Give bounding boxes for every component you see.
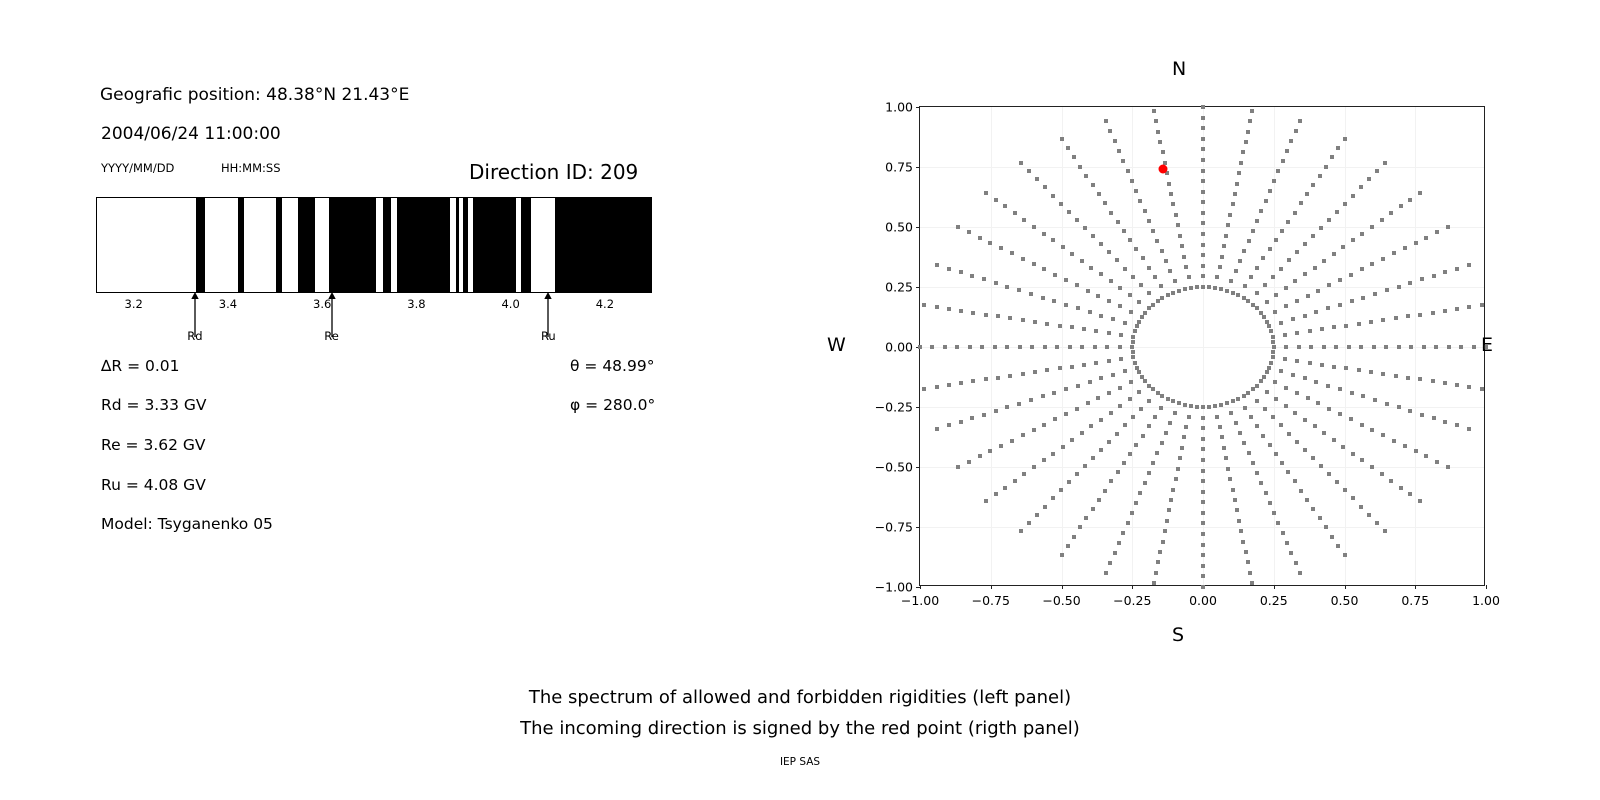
direction-dot [1251, 461, 1255, 465]
direction-dot [1229, 279, 1233, 283]
direction-dot [1276, 521, 1280, 525]
direction-dot [1383, 161, 1387, 165]
direction-dot [1218, 425, 1222, 429]
direction-dot [1169, 192, 1173, 196]
direction-dot [1135, 324, 1139, 328]
x-tick-label: 0.50 [1331, 593, 1359, 608]
direction-dot [1241, 540, 1245, 544]
direction-dot [1169, 498, 1173, 502]
direction-dot [1327, 407, 1331, 411]
x-tick-mark [1132, 585, 1133, 589]
direction-dot [1201, 169, 1205, 173]
direction-dot [1080, 259, 1084, 263]
direction-dot [1134, 247, 1138, 251]
direction-dot [1314, 380, 1318, 384]
direction-dot [1064, 387, 1068, 391]
direction-dot [1154, 571, 1158, 575]
direction-dot [1123, 321, 1127, 325]
direction-dot [1327, 218, 1331, 222]
forbidden-band [555, 198, 652, 292]
direction-dot [1418, 191, 1422, 195]
direction-dot [1234, 269, 1238, 273]
direction-dot [1384, 345, 1388, 349]
direction-dot [1195, 405, 1199, 409]
direction-dot [1052, 299, 1056, 303]
x-tick-mark [991, 585, 992, 589]
direction-dot [1156, 130, 1160, 134]
direction-dot [1061, 245, 1065, 249]
direction-dot [1151, 387, 1155, 391]
direction-dot [1103, 201, 1107, 205]
direction-dot [1324, 165, 1328, 169]
direction-dot [1103, 489, 1107, 493]
rigidity-axis: 3.23.43.63.84.04.2RdReRu [96, 293, 652, 353]
direction-dot [1140, 315, 1144, 319]
direction-dot [1268, 247, 1272, 251]
direction-dot [1032, 225, 1036, 229]
direction-dot [1135, 366, 1139, 370]
direction-dot [1299, 201, 1303, 205]
direction-dot [1195, 285, 1199, 289]
direction-dot [1228, 213, 1232, 217]
direction-dot [1293, 479, 1297, 483]
direction-dot [1259, 379, 1263, 383]
direction-dot [1201, 426, 1205, 430]
y-tick-label: −0.75 [875, 520, 913, 535]
direction-dot [1255, 384, 1259, 388]
gridline-vertical [1345, 107, 1346, 585]
direction-dot [1303, 376, 1307, 380]
direction-dot [1161, 540, 1165, 544]
direction-dot [1113, 139, 1117, 143]
direction-dot [1201, 479, 1205, 483]
direction-dot [1306, 294, 1310, 298]
direction-dot [1082, 363, 1086, 367]
direction-dot [1051, 452, 1055, 456]
direction-dot [1314, 310, 1318, 314]
direction-dot [1147, 291, 1151, 295]
direction-dot [1201, 126, 1205, 130]
direction-dot [1228, 477, 1232, 481]
direction-dot [1226, 223, 1230, 227]
direction-dot [1137, 300, 1141, 304]
direction-dot [1408, 492, 1412, 496]
direction-dot [1341, 245, 1345, 249]
direction-dot [1303, 242, 1307, 246]
direction-dot [1311, 456, 1315, 460]
direction-dot [1234, 421, 1238, 425]
direction-dot [1320, 327, 1324, 331]
direction-dot [994, 492, 998, 496]
direction-dot [971, 379, 975, 383]
direction-dot [1330, 535, 1334, 539]
direction-dot [1446, 225, 1450, 229]
direction-dot [1053, 417, 1057, 421]
direction-dot [1084, 174, 1088, 178]
direction-dot [1099, 242, 1103, 246]
geographic-position-text: Geografic position: 48.38°N 21.43°E [100, 85, 409, 105]
direction-dot [1176, 223, 1180, 227]
direction-dot [1159, 406, 1163, 410]
direction-dot [1064, 303, 1068, 307]
y-tick-mark [916, 107, 920, 108]
direction-dot [1357, 322, 1361, 326]
direction-dot [1055, 345, 1059, 349]
direction-dot [1076, 384, 1080, 388]
direction-dot [1010, 251, 1014, 255]
direction-dot [1360, 232, 1364, 236]
direction-dot [1182, 255, 1186, 259]
direction-dot [1237, 171, 1241, 175]
direction-dot [1274, 452, 1278, 456]
direction-dot [1155, 451, 1159, 455]
direction-dot [1242, 441, 1246, 445]
direction-dot [1350, 391, 1354, 395]
direction-dot [1273, 310, 1277, 314]
direction-dot [1336, 146, 1340, 150]
direction-dot [1422, 345, 1426, 349]
direction-dot [1375, 521, 1379, 525]
direction-dot [1083, 226, 1087, 230]
direction-dot [1239, 161, 1243, 165]
direction-dot [1222, 244, 1226, 248]
direction-dot [1284, 345, 1288, 349]
forbidden-band [238, 198, 244, 292]
direction-dot [1399, 204, 1403, 208]
direction-dot [1147, 266, 1151, 270]
direction-dot [1099, 448, 1103, 452]
forbidden-band [473, 198, 516, 292]
direction-dot [1319, 464, 1323, 468]
direction-dot [1201, 585, 1205, 589]
direction-dot [1249, 275, 1253, 279]
date-format-hint: YYYY/MM/DD [101, 161, 174, 175]
param-ru: Ru = 4.08 GV [101, 476, 206, 494]
direction-dot [1255, 471, 1259, 475]
direction-dot [1138, 491, 1142, 495]
direction-dot [994, 409, 998, 413]
direction-dot [1147, 306, 1151, 310]
direction-dot [1373, 398, 1377, 402]
direction-dot [1271, 335, 1275, 339]
x-tick-mark [920, 585, 921, 589]
forbidden-band [276, 198, 282, 292]
direction-dot [1091, 507, 1095, 511]
direction-dot [1251, 387, 1255, 391]
direction-dot [1121, 159, 1125, 163]
direction-dot [1158, 550, 1162, 554]
datetime-text: 2004/06/24 11:00:00 [101, 124, 281, 144]
direction-dot [1255, 219, 1259, 223]
direction-dot [1042, 232, 1046, 236]
direction-dot [1361, 296, 1365, 300]
compass-label-west: W [827, 334, 846, 356]
direction-dot [984, 377, 988, 381]
direction-dot [1370, 262, 1374, 266]
y-tick-label: −1.00 [875, 580, 913, 595]
direction-dot [1305, 498, 1309, 502]
gridline-vertical [1062, 107, 1063, 585]
direction-dot [1215, 275, 1219, 279]
direction-dot [1338, 303, 1342, 307]
direction-dot [1097, 192, 1101, 196]
x-tick-mark [1274, 585, 1275, 589]
direction-dot [1219, 287, 1223, 291]
direction-dot [1459, 345, 1463, 349]
direction-dot [1068, 345, 1072, 349]
direction-dot [1294, 561, 1298, 565]
direction-dot [1385, 288, 1389, 292]
direction-dot [1295, 440, 1299, 444]
direction-dot [1163, 529, 1167, 533]
direction-dot [1051, 194, 1055, 198]
direction-dot [1173, 411, 1177, 415]
direction-dot [1111, 317, 1115, 321]
direction-dot [1013, 479, 1017, 483]
direction-dot [1247, 451, 1251, 455]
direction-dot [1287, 432, 1291, 436]
direction-dot [1129, 310, 1133, 314]
direction-dot [1147, 384, 1151, 388]
direction-dot [1246, 560, 1250, 564]
direction-dot [1298, 119, 1302, 123]
direction-dot [1131, 275, 1135, 279]
direction-dot [1075, 407, 1079, 411]
direction-dot [1159, 284, 1163, 288]
direction-dot [1263, 407, 1267, 411]
direction-dot [1126, 169, 1130, 173]
direction-dot [978, 454, 982, 458]
direction-dot [1143, 481, 1147, 485]
direction-dot [1029, 292, 1033, 296]
direction-dot [1107, 440, 1111, 444]
direction-dot [1443, 270, 1447, 274]
direction-dot [1467, 305, 1471, 309]
rigidity-tick-label: 4.2 [596, 297, 614, 311]
direction-dot [1008, 316, 1012, 320]
direction-dot [1022, 218, 1026, 222]
direction-dot [1406, 314, 1410, 318]
y-tick-mark [916, 467, 920, 468]
direction-dot [1408, 409, 1412, 413]
direction-dot [1201, 458, 1205, 462]
direction-dot [1051, 238, 1055, 242]
y-tick-mark [916, 587, 920, 588]
x-tick-label: 0.00 [1189, 593, 1217, 608]
direction-dot [1153, 275, 1157, 279]
direction-dot [1286, 220, 1290, 224]
direction-dot [1349, 273, 1353, 277]
direction-dot [1201, 447, 1205, 451]
direction-dot [1137, 370, 1141, 374]
y-tick-label: 0.25 [885, 280, 913, 295]
direction-dot [1091, 234, 1095, 238]
direction-dot [1334, 345, 1338, 349]
direction-dot [1420, 413, 1424, 417]
direction-dot [1017, 288, 1021, 292]
direction-dot [1344, 366, 1348, 370]
direction-dot [1118, 345, 1122, 349]
direction-dot [1201, 490, 1205, 494]
direction-dot [1284, 386, 1288, 390]
direction-dot [1052, 391, 1056, 395]
direction-dot [1414, 241, 1418, 245]
direction-dot [1187, 415, 1191, 419]
direction-dot [1096, 396, 1100, 400]
direction-dot [1235, 508, 1239, 512]
direction-dot [1283, 333, 1287, 337]
direction-dot [1201, 532, 1205, 536]
param-model: Model: Tsyganenko 05 [101, 515, 273, 533]
direction-dot [1269, 329, 1273, 333]
direction-dot [1108, 561, 1112, 565]
direction-dot [1263, 283, 1267, 287]
direction-dot [1326, 306, 1330, 310]
direction-dot [1335, 480, 1339, 484]
direction-dot [1222, 446, 1226, 450]
direction-dot [1189, 286, 1193, 290]
direction-dot [935, 263, 939, 267]
direction-dot [1279, 321, 1283, 325]
direction-dot [922, 303, 926, 307]
direction-dot [1226, 467, 1230, 471]
direction-dot [1264, 199, 1268, 203]
direction-dot [1341, 445, 1345, 449]
direction-dot [1434, 345, 1438, 349]
direction-dot [1143, 311, 1147, 315]
direction-dot [1005, 285, 1009, 289]
direction-dot [1272, 179, 1276, 183]
direction-dot [1281, 159, 1285, 163]
direction-dot [1279, 369, 1283, 373]
direction-dot [1111, 373, 1115, 377]
direction-dot [1201, 553, 1205, 557]
direction-dot [1357, 368, 1361, 372]
direction-dot [1201, 105, 1205, 109]
direction-dot [1414, 449, 1418, 453]
direction-dot [1351, 238, 1355, 242]
direction-dot [1274, 293, 1278, 297]
direction-dot [1060, 553, 1064, 557]
direction-dot [1332, 438, 1336, 442]
direction-dot [1392, 439, 1396, 443]
direction-dot [1041, 296, 1045, 300]
direction-dot [1269, 361, 1273, 365]
direction-dot [1233, 498, 1237, 502]
direction-dot [1201, 243, 1205, 247]
direction-dot [1219, 403, 1223, 407]
direction-dot [1201, 253, 1205, 257]
direction-dot [1244, 550, 1248, 554]
direction-dot [1455, 383, 1459, 387]
direction-dot [1318, 516, 1322, 520]
direction-dot [1094, 329, 1098, 333]
compass-label-south: S [1172, 624, 1184, 646]
direction-dot [1243, 406, 1247, 410]
direction-dot [1118, 286, 1122, 290]
direction-dot [1305, 192, 1309, 196]
direction-dot [1313, 266, 1317, 270]
direction-dot [1126, 521, 1130, 525]
direction-dot [1018, 345, 1022, 349]
direction-dot [1418, 313, 1422, 317]
direction-dot [1099, 314, 1103, 318]
direction-dot [996, 314, 1000, 318]
direction-dot [947, 307, 951, 311]
direction-dot [1201, 416, 1205, 420]
direction-dot [1274, 238, 1278, 242]
direction-dot [1151, 303, 1155, 307]
direction-dot [1113, 551, 1117, 555]
direction-dot [1262, 375, 1266, 379]
direction-dot [1435, 230, 1439, 234]
direction-dot [1248, 119, 1252, 123]
direction-dot [1394, 316, 1398, 320]
direction-dot [1160, 441, 1164, 445]
direction-dot [1375, 169, 1379, 173]
forbidden-band [521, 198, 531, 292]
direction-dot [1350, 299, 1354, 303]
direction-dot [1099, 272, 1103, 276]
direction-dot [1238, 259, 1242, 263]
direction-dot [1274, 397, 1278, 401]
direction-dot [1272, 511, 1276, 515]
direction-dot [970, 274, 974, 278]
direction-dot [984, 191, 988, 195]
direction-dot [1141, 434, 1145, 438]
direction-dot [1265, 390, 1269, 394]
direction-dot [1279, 267, 1283, 271]
direction-dot [1147, 219, 1151, 223]
direction-dot [1078, 165, 1082, 169]
direction-dot [1447, 345, 1451, 349]
direction-dot [1129, 380, 1133, 384]
y-tick-label: 1.00 [885, 100, 913, 115]
direction-dot [1041, 394, 1045, 398]
direction-dot [994, 198, 998, 202]
direction-dot [1161, 150, 1165, 154]
direction-dot [1309, 345, 1313, 349]
forbidden-band [298, 198, 315, 292]
direction-dot [1443, 381, 1447, 385]
direction-dot [982, 277, 986, 281]
direction-dot [1213, 286, 1217, 290]
direction-dot [1128, 452, 1132, 456]
direction-dot [1134, 443, 1138, 447]
direction-dot [1389, 479, 1393, 483]
direction-dot [1201, 158, 1205, 162]
direction-dot [1250, 581, 1254, 585]
direction-dot [1019, 529, 1023, 533]
direction-dot [1147, 399, 1151, 403]
y-tick-label: 0.50 [885, 220, 913, 235]
direction-dot [1316, 401, 1320, 405]
direction-dot [1408, 198, 1412, 202]
direction-dot [1043, 345, 1047, 349]
direction-dot [1128, 238, 1132, 242]
direction-dot [1032, 428, 1036, 432]
forbidden-band [456, 198, 459, 292]
direction-dot [1318, 174, 1322, 178]
direction-dot [1201, 564, 1205, 568]
direction-dot [1455, 423, 1459, 427]
direction-dot [1013, 211, 1017, 215]
direction-dot [935, 427, 939, 431]
direction-dot [1324, 525, 1328, 529]
direction-dot [1255, 399, 1259, 403]
direction-dot [1311, 234, 1315, 238]
direction-dot [1424, 236, 1428, 240]
